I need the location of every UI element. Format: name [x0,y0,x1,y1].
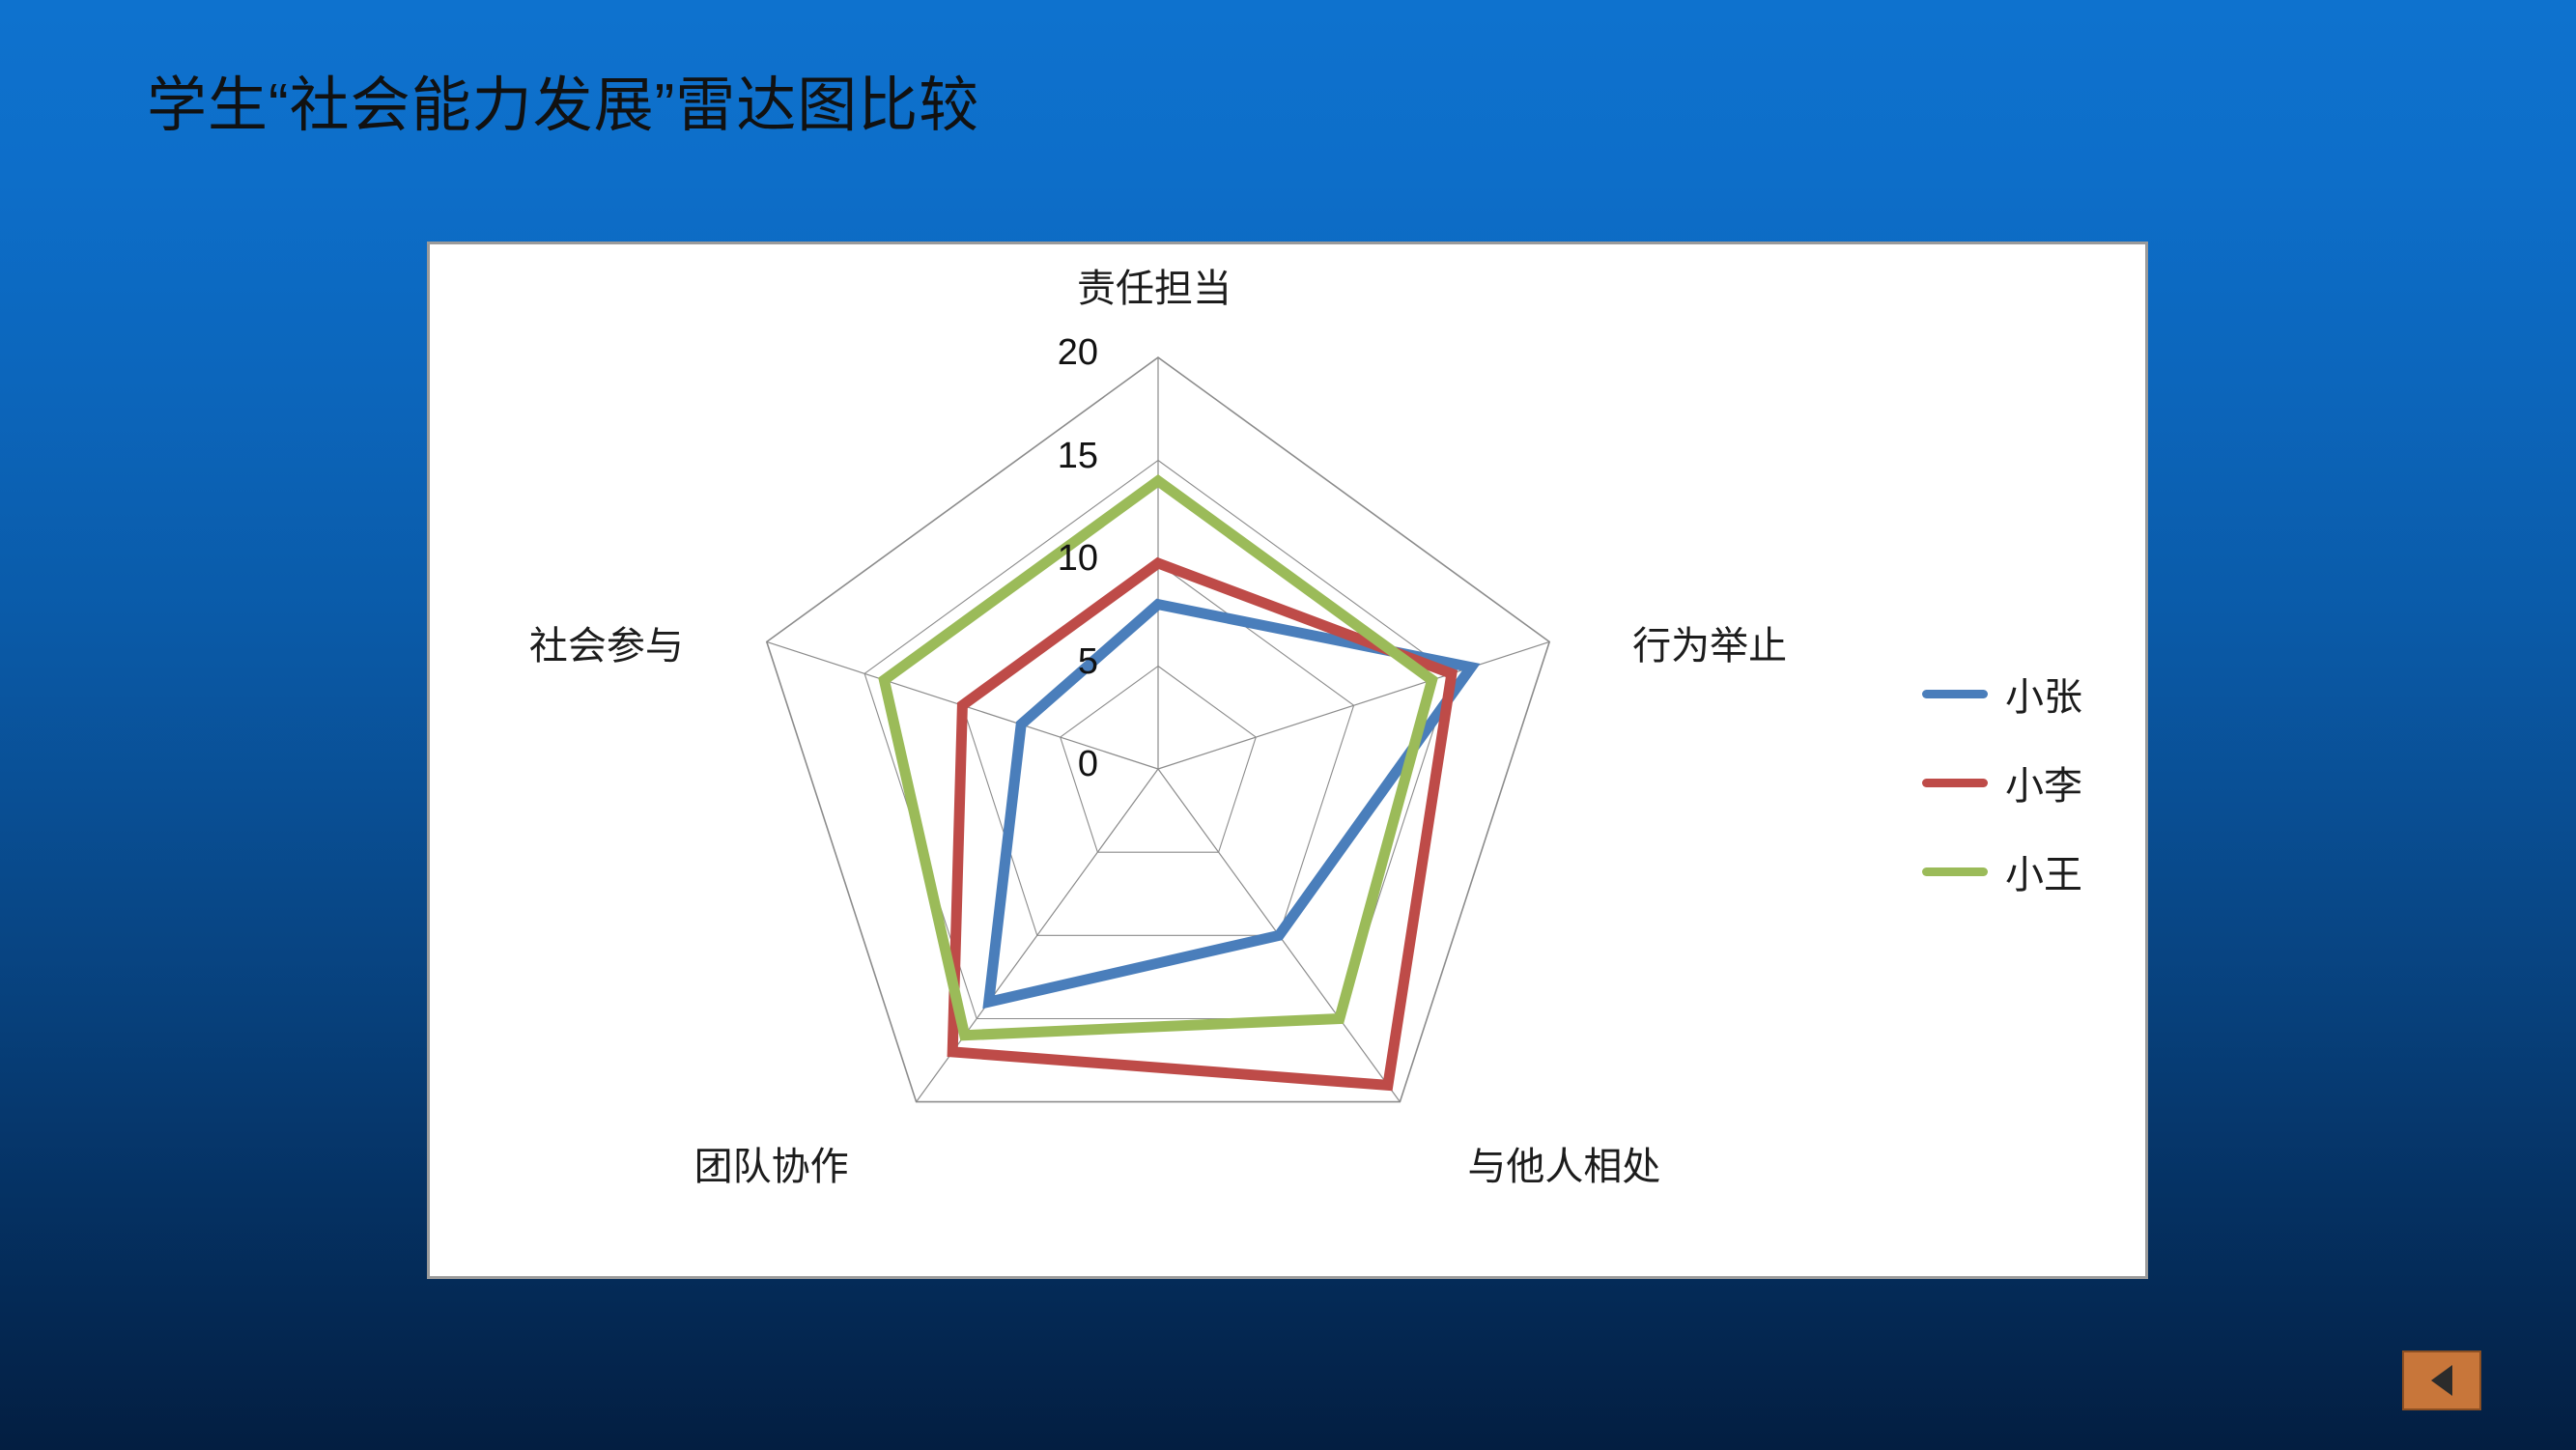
chart-frame: 责任担当行为举止与他人相处团队协作社会参与 05101520 [427,242,2148,1279]
legend-label: 小张 [2005,666,2082,722]
legend-item[interactable]: 小张 [1922,649,2144,738]
axis-category-label: 团队协作 [694,1135,849,1191]
legend-item[interactable]: 小李 [1922,738,2144,827]
radar-axis-spoke [1158,641,1549,769]
legend-color-swatch [1922,690,1988,698]
radial-tick-label: 5 [1078,641,1098,683]
back-button[interactable] [2402,1350,2481,1410]
left-triangle-icon [2431,1365,2452,1396]
axis-category-label: 社会参与 [529,614,684,670]
radial-tick-label: 0 [1078,744,1098,785]
legend-label: 小王 [2005,843,2082,899]
axis-category-label: 责任担当 [1077,257,1231,313]
chart-legend: 小张小李小王 [1922,649,2144,916]
radar-chart-plot [430,244,2145,1276]
legend-item[interactable]: 小王 [1922,827,2144,916]
slide-canvas: 学生“社会能力发展”雷达图比较 责任担当行为举止与他人相处团队协作社会参与 05… [0,0,2576,1450]
radial-tick-label: 15 [1058,436,1098,477]
legend-label: 小李 [2005,754,2082,810]
legend-color-swatch [1922,779,1988,787]
legend-color-swatch [1922,867,1988,876]
radial-tick-label: 10 [1058,538,1098,580]
page-title: 学生“社会能力发展”雷达图比较 [147,71,979,140]
axis-category-label: 行为举止 [1632,614,1787,670]
radial-tick-label: 20 [1058,332,1098,374]
axis-category-label: 与他人相处 [1467,1135,1660,1191]
